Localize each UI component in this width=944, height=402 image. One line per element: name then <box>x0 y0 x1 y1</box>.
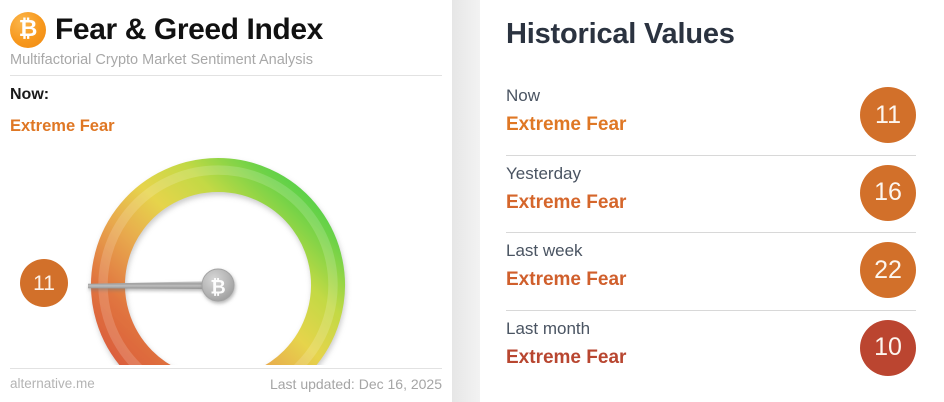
index-panel: ₿ Fear & Greed Index Multifactorial Cryp… <box>0 0 452 402</box>
gauge-value-badge: 11 <box>20 259 68 307</box>
gauge-value-text: 11 <box>33 273 55 294</box>
history-classification: Extreme Fear <box>506 192 626 214</box>
footer-divider <box>10 368 442 369</box>
page-title: Fear & Greed Index <box>55 13 323 47</box>
history-period: Now <box>506 86 540 106</box>
list-item: Last month Extreme Fear 10 <box>506 311 916 389</box>
history-classification: Extreme Fear <box>506 347 626 369</box>
history-value-badge: 10 <box>860 320 916 376</box>
historical-panel: Historical Values Now Extreme Fear 11 Ye… <box>480 0 944 402</box>
historical-title: Historical Values <box>506 18 735 51</box>
bitcoin-hub-glyph: ₿ <box>210 277 225 299</box>
history-value-text: 11 <box>875 103 901 128</box>
history-period: Last week <box>506 241 583 261</box>
now-label: Now: <box>10 86 49 104</box>
bitcoin-icon: ₿ <box>10 12 46 48</box>
list-item: Yesterday Extreme Fear 16 <box>506 156 916 234</box>
history-classification: Extreme Fear <box>506 269 626 291</box>
history-value-text: 16 <box>874 180 902 205</box>
now-classification: Extreme Fear <box>10 117 115 136</box>
history-period: Yesterday <box>506 164 581 184</box>
gauge-svg: ₿ <box>0 140 452 365</box>
historical-list: Now Extreme Fear 11 Yesterday Extreme Fe… <box>506 78 916 388</box>
history-period: Last month <box>506 319 590 339</box>
history-value-badge: 16 <box>860 165 916 221</box>
bitcoin-glyph: ₿ <box>19 18 38 41</box>
history-value-text: 10 <box>874 335 902 360</box>
history-classification: Extreme Fear <box>506 114 626 136</box>
history-value-badge: 22 <box>860 242 916 298</box>
list-item: Last week Extreme Fear 22 <box>506 233 916 311</box>
source-link[interactable]: alternative.me <box>10 376 95 391</box>
brand-row: ₿ Fear & Greed Index <box>10 8 323 52</box>
list-item: Now Extreme Fear 11 <box>506 78 916 156</box>
header-divider <box>10 75 442 76</box>
history-value-text: 22 <box>874 258 902 283</box>
gauge: ₿ 11 <box>0 140 452 365</box>
gauge-hub: ₿ <box>202 269 234 301</box>
panel-divider <box>452 0 480 402</box>
page-subtitle: Multifactorial Crypto Market Sentiment A… <box>10 52 313 68</box>
fear-greed-widget: ₿ Fear & Greed Index Multifactorial Cryp… <box>0 0 944 402</box>
history-value-badge: 11 <box>860 87 916 143</box>
last-updated: Last updated: Dec 16, 2025 <box>270 376 442 392</box>
